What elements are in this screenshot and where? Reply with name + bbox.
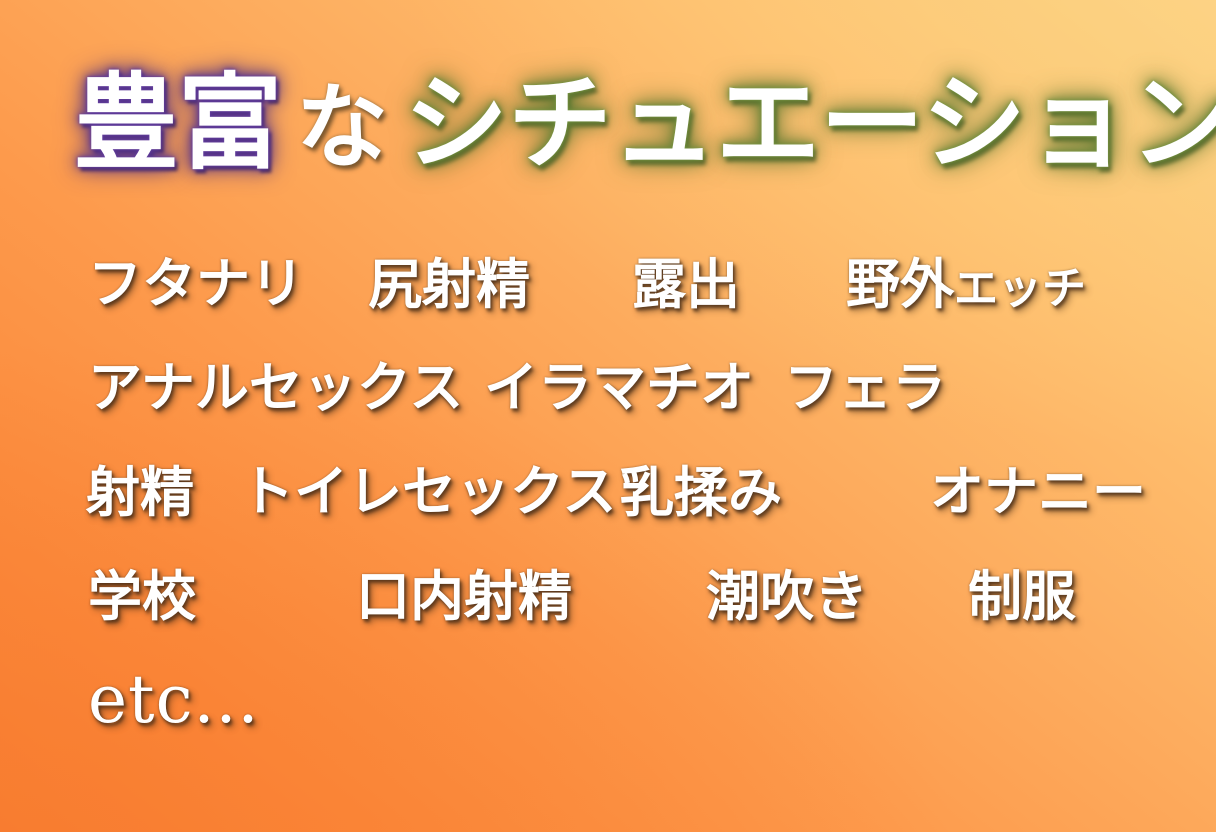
situation-tag-label: 口内射精 [356, 564, 572, 628]
situation-tag-label: 射精 [86, 460, 194, 524]
situation-tag-list: フタナリ尻射精露出野外エッチアナルセックスイラマチオフェラ射精トイレセックス乳揉… [0, 252, 1216, 772]
situation-tag: etc... [88, 668, 259, 732]
situation-tag-label: フェラ [784, 356, 946, 419]
situation-tag-label: イラマチオ [484, 356, 754, 419]
situation-tag: フェラ [784, 356, 946, 420]
situation-tag: 射精 [86, 460, 194, 524]
situation-tag-label: 尻射精 [368, 252, 530, 316]
situation-tag: オナニー [930, 460, 1146, 524]
tag-row: 学校口内射精潮吹き制服 [0, 564, 1216, 668]
tag-row: etc... [0, 668, 1216, 772]
situation-tag-suffix: エッチ [954, 263, 1086, 314]
slide-stage: 豊富なシチュエーション フタナリ尻射精露出野外エッチアナルセックスイラマチオフェ… [0, 0, 1216, 832]
situation-tag: 潮吹き [706, 564, 868, 628]
situation-tag: 露出 [632, 252, 740, 316]
tag-row: アナルセックスイラマチオフェラ [0, 356, 1216, 460]
situation-tag: 乳揉み [620, 460, 782, 524]
tag-row: 射精トイレセックス乳揉みオナニー [0, 460, 1216, 564]
situation-tag: フタナリ [88, 252, 304, 316]
page-title: 豊富なシチュエーション [74, 62, 1216, 185]
situation-tag: 野外エッチ [846, 252, 1086, 321]
situation-tag-label: 制服 [968, 564, 1076, 628]
situation-tag-label: トイレセックス [240, 460, 616, 523]
situation-tag-label: 潮吹き [706, 564, 868, 628]
situation-tag: 口内射精 [356, 564, 572, 628]
situation-tag-label: オナニー [930, 460, 1146, 523]
situation-tag-label: 学校 [88, 564, 196, 628]
title-katakana: シチュエーション [404, 62, 1216, 185]
situation-tag-label: 露出 [632, 252, 740, 316]
tag-row: フタナリ尻射精露出野外エッチ [0, 252, 1216, 356]
situation-tag: トイレセックス [240, 460, 616, 524]
situation-tag-label: 野外 [846, 252, 954, 316]
situation-tag: イラマチオ [484, 356, 754, 420]
situation-tag-label: アナルセックス [88, 356, 463, 419]
situation-tag: アナルセックス [88, 356, 463, 420]
situation-tag: 尻射精 [368, 252, 530, 316]
situation-tag-label: etc... [88, 661, 259, 738]
situation-tag-label: 乳揉み [620, 460, 782, 524]
title-particle: な [296, 73, 388, 182]
situation-tag-label: フタナリ [88, 252, 304, 315]
title-kanji-highlight: 豊富 [74, 62, 282, 185]
situation-tag: 制服 [968, 564, 1076, 628]
situation-tag: 学校 [88, 564, 196, 628]
